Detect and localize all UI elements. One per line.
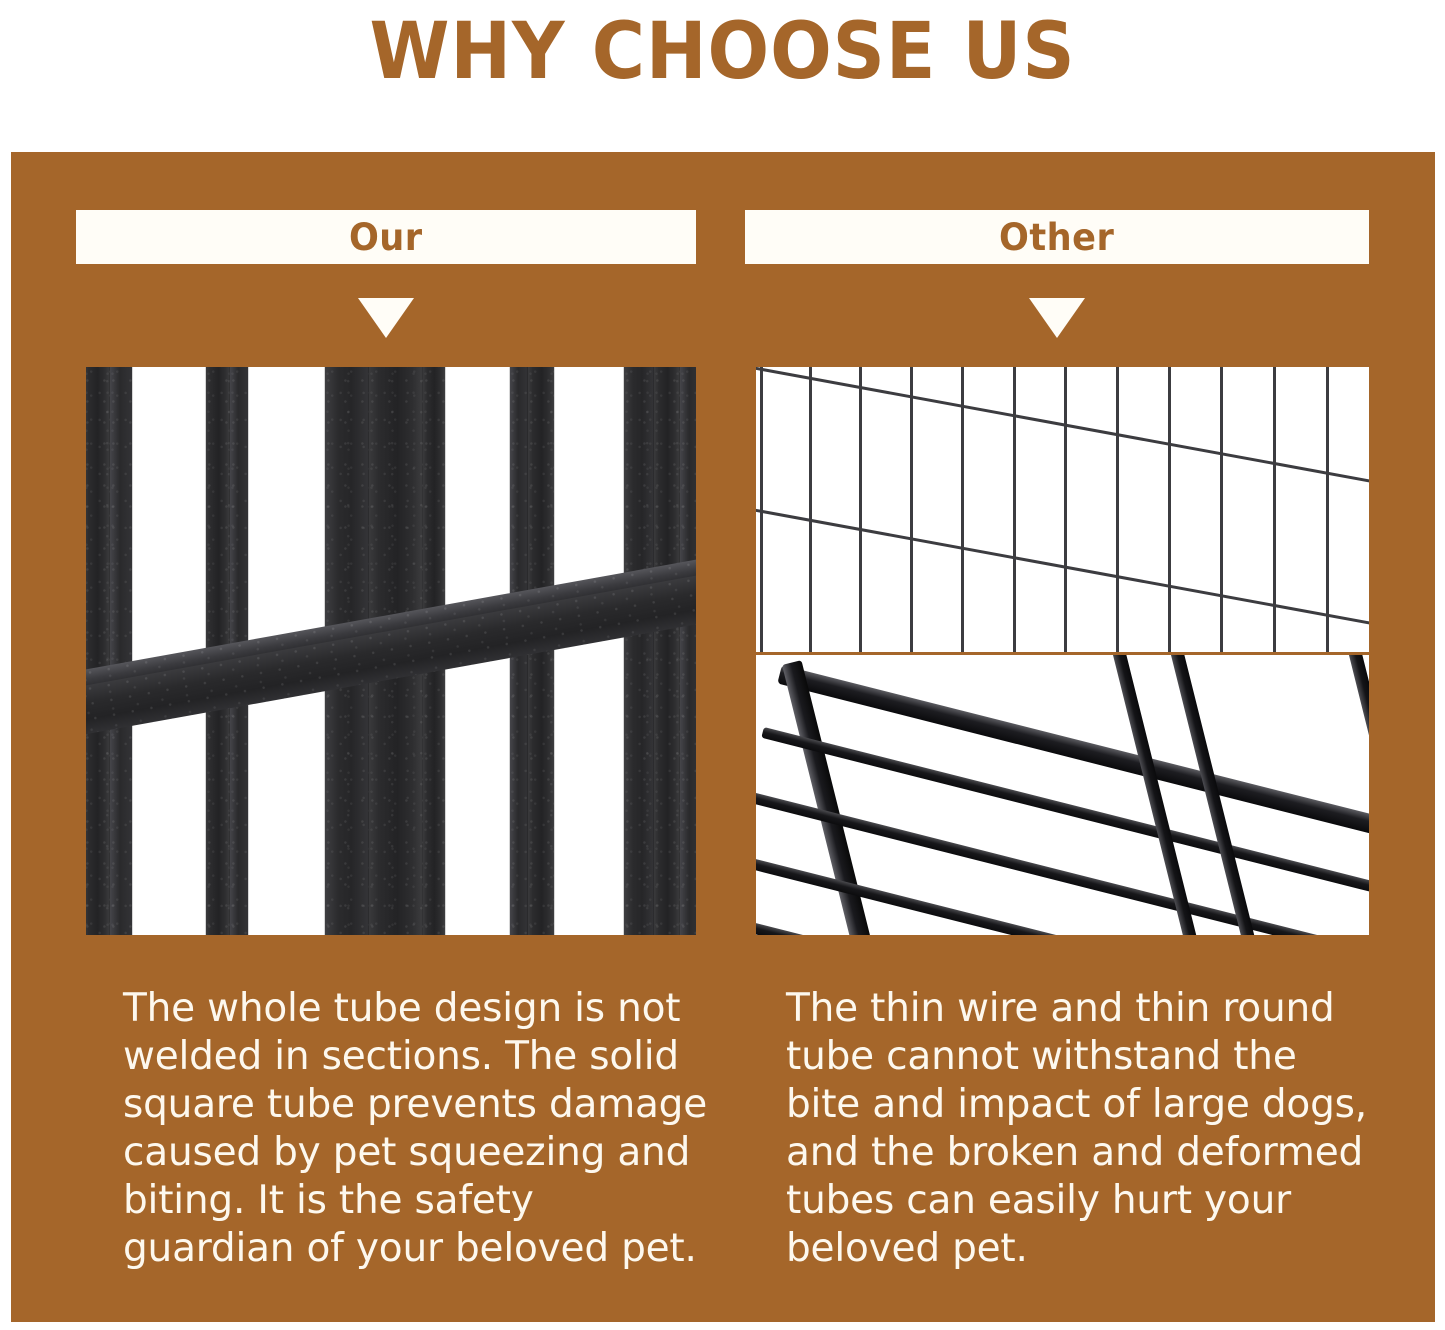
square-tube-fence-illustration [86,367,696,935]
photo-other-wire-mesh [756,367,1369,652]
label-our: Our [349,216,423,259]
comparison-stage: Our [11,152,1435,1322]
page-title: WHY CHOOSE US [51,4,1395,100]
label-bar-our: Our [76,210,696,264]
caption-other: The thin wire and thin round tube cannot… [786,985,1376,1273]
thin-wire-mesh-illustration [756,367,1369,652]
round-tube-panel-illustration [756,655,1369,935]
label-bar-other: Other [745,210,1369,264]
down-triangle-icon-our [358,298,414,338]
column-our: Our [76,152,696,1322]
column-other: Other [745,152,1369,1322]
label-other: Other [999,216,1114,259]
photo-our-square-tube [86,367,696,935]
photo-other-round-tube-panel [756,655,1369,935]
caption-our: The whole tube design is not welded in s… [123,985,713,1273]
down-triangle-icon-other [1029,298,1085,338]
why-choose-us-infographic: WHY CHOOSE US Our [0,0,1445,1330]
